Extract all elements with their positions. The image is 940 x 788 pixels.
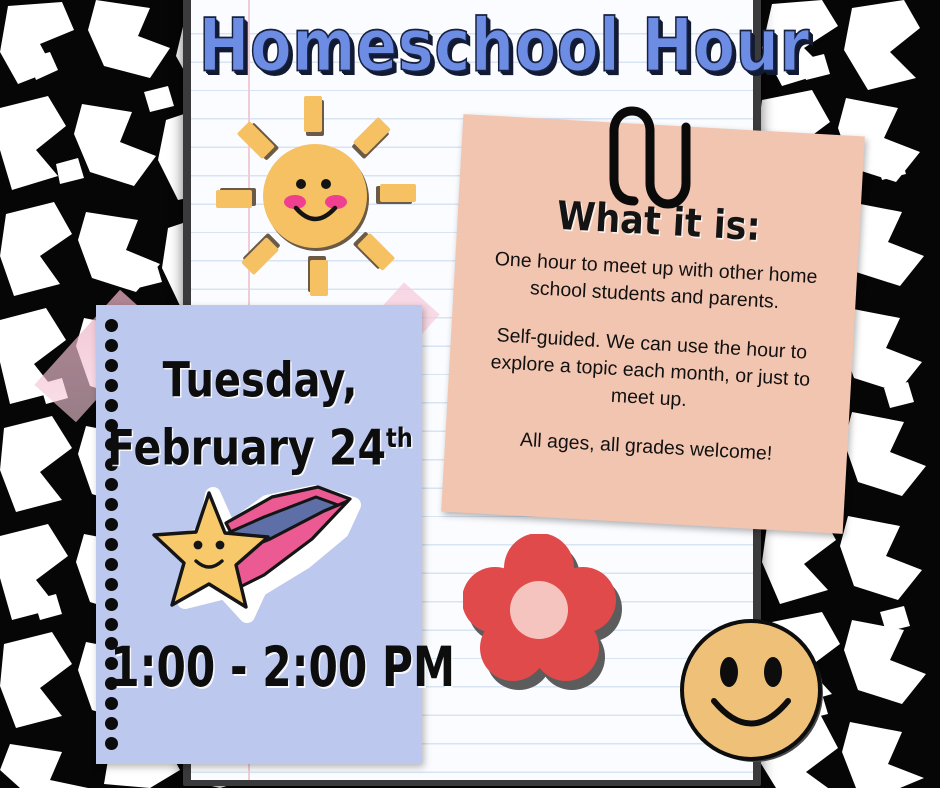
flower-icon [463, 534, 623, 694]
perforation-dot [105, 578, 118, 591]
event-time: 1:00 - 2:00 PM [110, 636, 410, 701]
pink-note-body: One hour to meet up with other home scho… [469, 245, 834, 470]
pink-note-paragraph: Self-guided. We can use the hour to expl… [471, 321, 829, 422]
perforation-dot [105, 538, 118, 551]
perforation-dot [105, 618, 118, 631]
event-date-line: February 24th [104, 410, 416, 477]
pink-note-paragraph: One hour to meet up with other home scho… [477, 245, 833, 319]
perforation-dot [105, 598, 118, 611]
flyer-canvas: Homeschool Hour [0, 0, 940, 788]
event-date-suffix: th [386, 423, 413, 454]
paperclip-icon [604, 105, 700, 213]
pink-note-paragraph: All ages, all grades welcome! [469, 424, 824, 471]
perforation-dot [105, 319, 118, 332]
perforation-dot [105, 498, 118, 511]
perforation-dot [105, 339, 118, 352]
perforation-dot [105, 518, 118, 531]
page-title: Homeschool Hour [199, 2, 748, 89]
perforation-dot [105, 558, 118, 571]
event-date: Tuesday, February 24th [104, 352, 416, 476]
shooting-star-icon [152, 483, 362, 628]
sun-icon [216, 96, 416, 296]
perforation-dot [105, 717, 118, 730]
event-day: Tuesday, [163, 353, 358, 408]
perforation-dot [105, 737, 118, 750]
perforation-dot [105, 478, 118, 491]
event-month-day: February 24 [107, 419, 386, 477]
smiley-face-icon [676, 614, 828, 766]
